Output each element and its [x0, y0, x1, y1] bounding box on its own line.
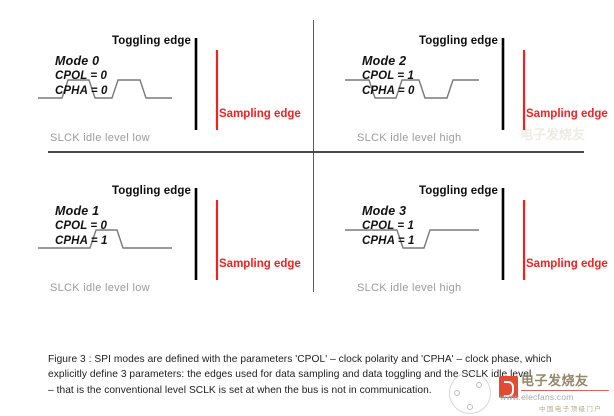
sampling-edge-label: Sampling edge: [219, 108, 301, 120]
spi-modes-figure: Toggling edge Mode 0 CPOL = 0 CPHA = 0 S…: [0, 0, 614, 416]
quadrant-mode-2: Toggling edge Mode 2 CPOL = 1 CPHA = 0 S…: [307, 10, 614, 160]
mode-title: Mode 1: [55, 204, 107, 219]
sampling-edge-label: Sampling edge: [219, 258, 301, 270]
sampling-edge-label: Sampling edge: [526, 258, 608, 270]
toggling-edge-label: Toggling edge: [112, 185, 191, 197]
idle-level-label: SLCK idle level high: [357, 282, 461, 294]
circuit-node-icon: [467, 404, 473, 410]
cpha-value: CPHA = 0: [55, 84, 107, 99]
mode-title: Mode 2: [362, 54, 414, 69]
mode-title: Mode 3: [362, 204, 414, 219]
quadrant-mode-3: Toggling edge Mode 3 CPOL = 1 CPHA = 1 S…: [307, 160, 614, 310]
caption-line-3: – that is the conventional level SCLK is…: [48, 383, 572, 398]
quadrant-mode-1: Toggling edge Mode 1 CPOL = 0 CPHA = 1 S…: [0, 160, 307, 310]
cpha-value: CPHA = 1: [362, 234, 414, 249]
toggling-edge-label: Toggling edge: [419, 35, 498, 47]
toggling-edge-label: Toggling edge: [112, 35, 191, 47]
toggling-edge-label: Toggling edge: [419, 185, 498, 197]
mode-info-block: Mode 2 CPOL = 1 CPHA = 0: [362, 54, 414, 99]
caption-line-1: Figure 3 : SPI modes are defined with th…: [48, 352, 572, 367]
mode-info-block: Mode 0 CPOL = 0 CPHA = 0: [55, 54, 107, 99]
figure-caption: Figure 3 : SPI modes are defined with th…: [48, 352, 572, 398]
quadrant-mode-0: Toggling edge Mode 0 CPOL = 0 CPHA = 0 S…: [0, 10, 307, 160]
cpha-value: CPHA = 0: [362, 84, 414, 99]
idle-level-label: SLCK idle level high: [357, 132, 461, 144]
mode-title: Mode 0: [55, 54, 107, 69]
waveform-mode-1: [0, 160, 307, 310]
idle-level-label: SLCK idle level low: [50, 132, 150, 144]
cpol-value: CPOL = 0: [55, 219, 107, 234]
waveform-mode-0: [0, 10, 307, 160]
watermark-tagline: 中国电子顶级门户: [539, 403, 602, 413]
idle-level-label: SLCK idle level low: [50, 282, 150, 294]
mode-info-block: Mode 1 CPOL = 0 CPHA = 1: [55, 204, 107, 249]
caption-line-2: explicitly define 3 parameters: the edge…: [48, 367, 572, 382]
cpol-value: CPOL = 1: [362, 219, 414, 234]
cpol-value: CPOL = 1: [362, 69, 414, 84]
cpha-value: CPHA = 1: [55, 234, 107, 249]
sampling-edge-label: Sampling edge: [526, 108, 608, 120]
mode-info-block: Mode 3 CPOL = 1 CPHA = 1: [362, 204, 414, 249]
cpol-value: CPOL = 0: [55, 69, 107, 84]
